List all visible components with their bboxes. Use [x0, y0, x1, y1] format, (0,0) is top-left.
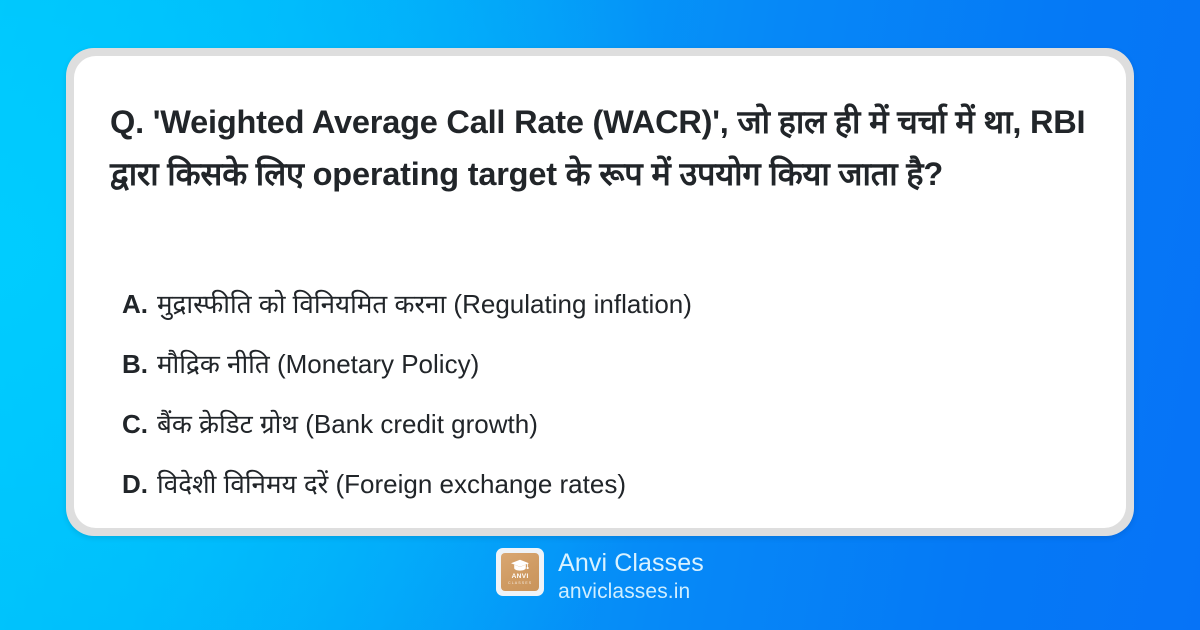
- option-b-label: मौद्रिक नीति (Monetary Policy): [157, 344, 479, 384]
- graduation-cap-icon: [510, 559, 530, 572]
- option-d-letter: D.: [122, 464, 148, 504]
- question-line-1: Q. 'Weighted Average Call Rate (WACR)', …: [110, 104, 946, 140]
- quiz-card-frame: Q. 'Weighted Average Call Rate (WACR)', …: [66, 48, 1134, 536]
- question-text: Q. 'Weighted Average Call Rate (WACR)', …: [110, 96, 1095, 200]
- brand-block[interactable]: ANVI CLASSES Anvi Classes anviclasses.in: [496, 548, 704, 605]
- brand-logo-word: ANVI: [512, 573, 529, 580]
- option-a-label: मुद्रास्फीति को विनियमित करना (Regulatin…: [157, 284, 692, 324]
- option-a-letter: A.: [122, 284, 148, 324]
- brand-name: Anvi Classes: [558, 549, 704, 577]
- question-line-3: किया जाता है?: [769, 156, 943, 192]
- options-list: A. मुद्रास्फीति को विनियमित करना (Regula…: [122, 284, 1082, 524]
- brand-logo: ANVI CLASSES: [496, 548, 544, 596]
- option-b[interactable]: B. मौद्रिक नीति (Monetary Policy): [122, 344, 1082, 404]
- footer: ANVI CLASSES Anvi Classes anviclasses.in: [0, 548, 1200, 610]
- option-c-letter: C.: [122, 404, 148, 444]
- option-c[interactable]: C. बैंक क्रेडिट ग्रोथ (Bank credit growt…: [122, 404, 1082, 464]
- brand-text: Anvi Classes anviclasses.in: [558, 548, 704, 605]
- quiz-card: Q. 'Weighted Average Call Rate (WACR)', …: [74, 56, 1126, 528]
- brand-logo-subword: CLASSES: [508, 581, 532, 586]
- brand-url[interactable]: anviclasses.in: [558, 579, 704, 605]
- option-d[interactable]: D. विदेशी विनिमय दरें (Foreign exchange …: [122, 464, 1082, 524]
- brand-logo-tile: ANVI CLASSES: [501, 553, 539, 591]
- option-c-label: बैंक क्रेडिट ग्रोथ (Bank credit growth): [157, 404, 538, 444]
- option-b-letter: B.: [122, 344, 148, 384]
- option-d-label: विदेशी विनिमय दरें (Foreign exchange rat…: [157, 464, 626, 504]
- option-a[interactable]: A. मुद्रास्फीति को विनियमित करना (Regula…: [122, 284, 1082, 344]
